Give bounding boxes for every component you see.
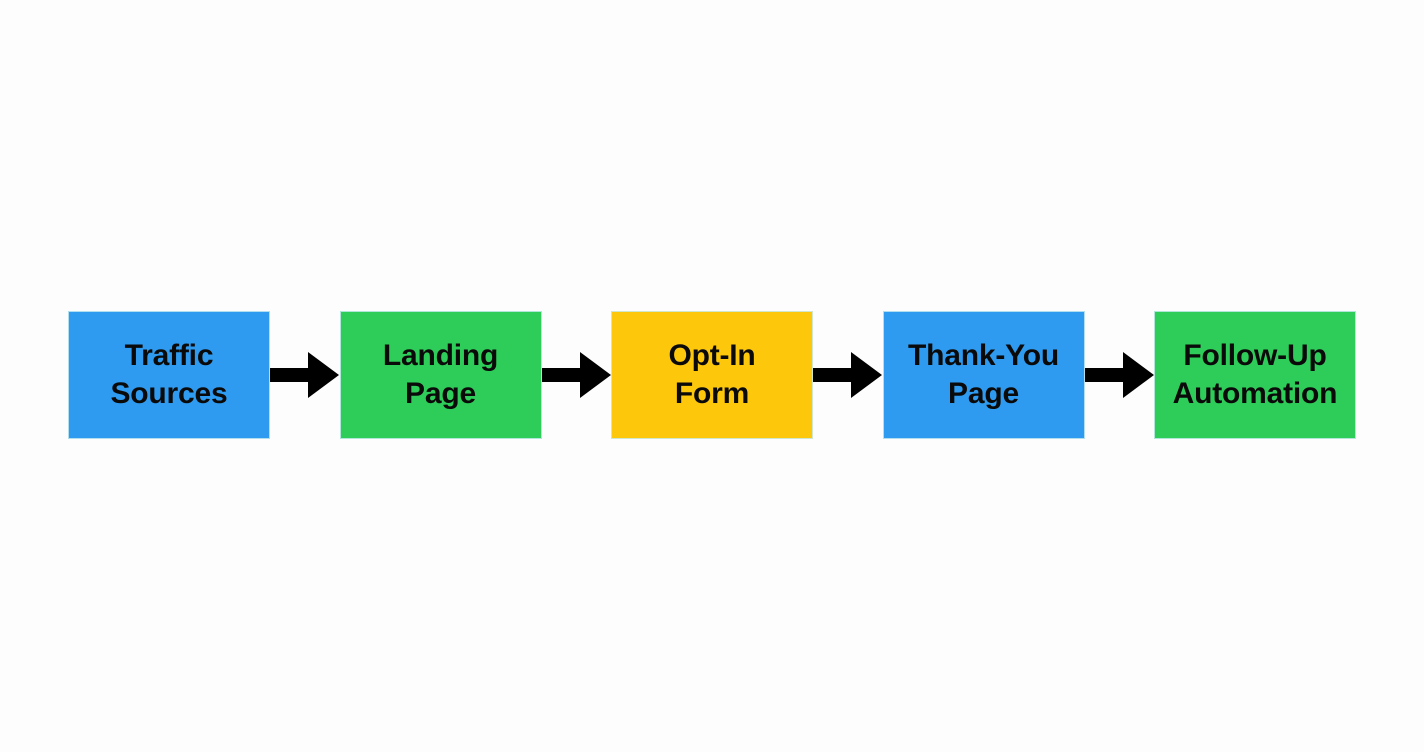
diagram-canvas: Traffic Sources Landing Page Opt-In Form… (0, 0, 1424, 752)
flow-node-opt-in-form[interactable]: Opt-In Form (611, 311, 813, 439)
flow-connector-4 (1085, 311, 1155, 439)
flow-node-label: Traffic Sources (105, 337, 234, 413)
flow-node-traffic-sources[interactable]: Traffic Sources (68, 311, 270, 439)
flow-node-label: Thank-You Page (902, 337, 1065, 413)
flow-node-follow-up-automation[interactable]: Follow-Up Automation (1154, 311, 1356, 439)
flow-node-label: Follow-Up Automation (1167, 337, 1344, 413)
flow-node-thank-you-page[interactable]: Thank-You Page (883, 311, 1085, 439)
arrow-right-icon (542, 347, 611, 403)
flow-node-label: Opt-In Form (662, 337, 761, 413)
flow-node-landing-page[interactable]: Landing Page (340, 311, 542, 439)
arrow-right-icon (270, 347, 339, 403)
flow-connector-2 (542, 311, 612, 439)
arrow-right-icon (813, 347, 882, 403)
arrow-right-icon (1085, 347, 1154, 403)
flowchart: Traffic Sources Landing Page Opt-In Form… (68, 311, 1356, 439)
flow-node-label: Landing Page (377, 337, 504, 413)
flow-connector-3 (813, 311, 883, 439)
flow-connector-1 (270, 311, 340, 439)
